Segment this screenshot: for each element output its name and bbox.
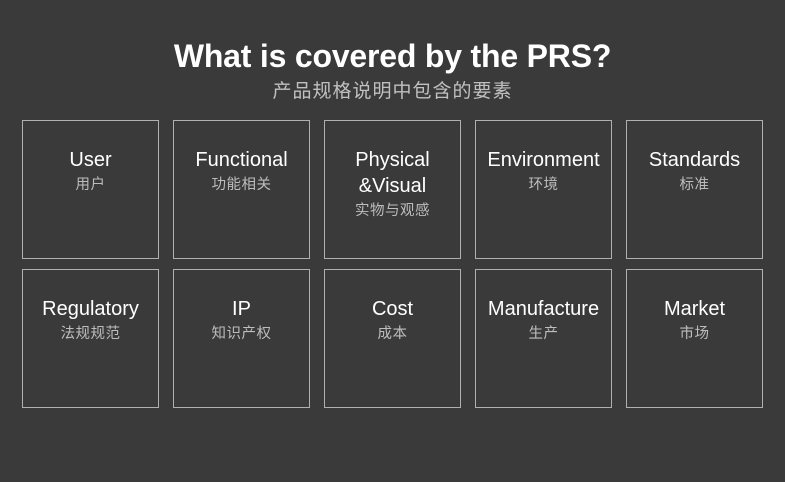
card-subtitle: 法规规范 [61,323,121,345]
card-title: Market [664,296,725,322]
card-cost[interactable]: Cost 成本 [324,269,461,408]
card-manufacture[interactable]: Manufacture 生产 [475,269,612,408]
page-title: What is covered by the PRS? [0,36,785,76]
card-subtitle: 实物与观感 [355,200,430,222]
card-subtitle: 生产 [529,323,559,345]
card-title: Regulatory [42,296,139,322]
card-functional[interactable]: Functional 功能相关 [173,120,310,259]
card-title: IP [232,296,251,322]
card-subtitle: 市场 [680,323,710,345]
card-user[interactable]: User 用户 [22,120,159,259]
card-title: User [69,147,111,173]
card-subtitle: 功能相关 [212,174,272,196]
card-ip[interactable]: IP 知识产权 [173,269,310,408]
card-subtitle: 环境 [529,174,559,196]
card-subtitle: 成本 [378,323,408,345]
card-title: Standards [649,147,740,173]
card-subtitle: 知识产权 [212,323,272,345]
card-standards[interactable]: Standards 标准 [626,120,763,259]
card-environment[interactable]: Environment 环境 [475,120,612,259]
card-title: Cost [372,296,413,322]
card-physical-visual[interactable]: Physical &Visual 实物与观感 [324,120,461,259]
page-subtitle: 产品规格说明中包含的要素 [0,78,785,106]
heading-block: What is covered by the PRS? 产品规格说明中包含的要素 [0,36,785,106]
card-subtitle: 用户 [76,174,106,196]
card-title: Manufacture [488,296,599,322]
card-market[interactable]: Market 市场 [626,269,763,408]
card-subtitle: 标准 [680,174,710,196]
prs-category-grid: User 用户 Functional 功能相关 Physical &Visual… [22,120,763,408]
card-title: Environment [487,147,599,173]
card-title: Physical &Visual [355,147,429,199]
card-title: Functional [195,147,287,173]
slide-canvas: What is covered by the PRS? 产品规格说明中包含的要素… [0,0,785,482]
card-regulatory[interactable]: Regulatory 法规规范 [22,269,159,408]
